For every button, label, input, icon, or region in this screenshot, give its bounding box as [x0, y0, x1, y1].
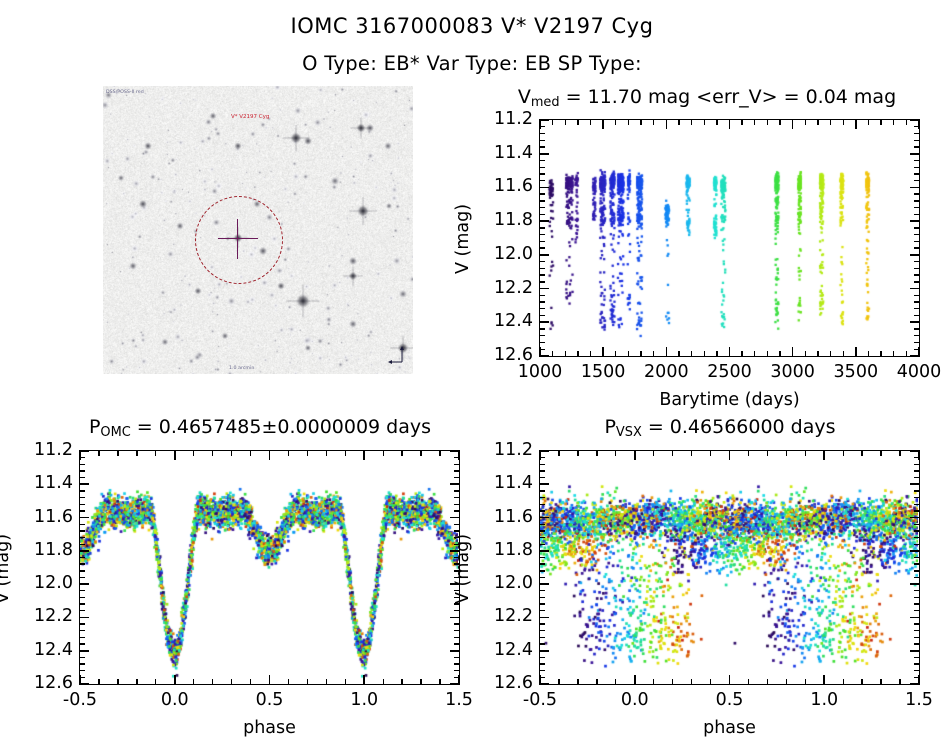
lightcurve-title: Vmed = 11.70 mag <err_V> = 0.04 mag: [470, 86, 944, 110]
y-tick-label: 12.2: [481, 608, 533, 626]
y-tick-label: 11.2: [21, 442, 73, 460]
y-minor-tick: [540, 563, 545, 564]
x-minor-tick: [420, 451, 421, 456]
y-minor-tick: [540, 301, 545, 302]
x-minor-tick: [741, 120, 742, 125]
y-minor-tick: [914, 557, 919, 558]
y-minor-tick: [454, 603, 459, 604]
y-minor-tick: [914, 637, 919, 638]
y-minor-tick: [80, 610, 85, 611]
x-minor-tick: [880, 451, 881, 456]
x-minor-tick: [843, 120, 844, 125]
x-minor-tick: [193, 451, 194, 456]
sky-corner-label: DSS/POSS-II red: [106, 89, 144, 95]
x-minor-tick: [558, 679, 559, 684]
x-minor-tick: [817, 120, 818, 125]
y-tick: [910, 550, 919, 552]
x-minor-tick: [748, 679, 749, 684]
x-minor-tick: [577, 120, 578, 125]
y-tick: [80, 550, 89, 552]
y-tick: [910, 617, 919, 619]
y-minor-tick: [80, 637, 85, 638]
phase-vsx-points-canvas: [540, 451, 918, 683]
y-minor-tick: [914, 315, 919, 316]
y-minor-tick: [454, 610, 459, 611]
y-minor-tick: [540, 160, 545, 161]
y-minor-tick: [454, 470, 459, 471]
y-tick: [910, 483, 919, 485]
y-minor-tick: [540, 497, 545, 498]
y-tick: [540, 683, 549, 685]
y-minor-tick: [80, 630, 85, 631]
x-minor-tick: [136, 679, 137, 684]
y-minor-tick: [540, 234, 545, 235]
x-minor-tick: [615, 451, 616, 456]
y-tick: [80, 650, 89, 652]
y-tick: [540, 355, 549, 357]
y-tick-label: 12.2: [21, 608, 73, 626]
x-minor-tick: [805, 351, 806, 356]
y-tick: [80, 617, 89, 619]
pomc-symbol: P: [89, 416, 100, 438]
x-minor-tick: [786, 679, 787, 684]
x-minor-tick: [704, 351, 705, 356]
x-minor-tick: [704, 120, 705, 125]
x-tick-label: 0.5: [230, 692, 310, 710]
y-minor-tick: [80, 530, 85, 531]
x-tick: [269, 451, 271, 460]
x-minor-tick: [401, 451, 402, 456]
y-minor-tick: [914, 133, 919, 134]
y-tick-label: 12.2: [481, 280, 533, 298]
y-minor-tick: [914, 504, 919, 505]
x-minor-tick: [899, 679, 900, 684]
y-minor-tick: [914, 570, 919, 571]
x-minor-tick: [767, 120, 768, 125]
x-minor-tick: [212, 679, 213, 684]
vmed-subscript: med: [531, 95, 560, 110]
x-minor-tick: [899, 451, 900, 456]
y-minor-tick: [80, 670, 85, 671]
x-tick: [634, 451, 636, 460]
y-minor-tick: [540, 295, 545, 296]
y-minor-tick: [80, 524, 85, 525]
x-minor-tick: [861, 451, 862, 456]
y-tick-label: 11.4: [481, 475, 533, 493]
y-minor-tick: [914, 537, 919, 538]
y-minor-tick: [914, 214, 919, 215]
x-minor-tick: [861, 679, 862, 684]
x-minor-tick: [716, 120, 717, 125]
y-tick: [540, 187, 549, 189]
y-minor-tick: [540, 268, 545, 269]
vmed-value-text: = 11.70 mag <err_V> = 0.04 mag: [560, 86, 897, 108]
x-minor-tick: [615, 120, 616, 125]
y-tick-label: 11.8: [481, 542, 533, 560]
y-minor-tick: [454, 670, 459, 671]
x-minor-tick: [741, 351, 742, 356]
x-tick: [823, 675, 825, 684]
y-minor-tick: [454, 570, 459, 571]
pvsx-value-text: = 0.46566000 days: [642, 416, 836, 438]
x-tick: [539, 347, 541, 356]
x-minor-tick: [590, 120, 591, 125]
y-minor-tick: [80, 504, 85, 505]
x-minor-tick: [767, 451, 768, 456]
y-minor-tick: [540, 464, 545, 465]
y-minor-tick: [454, 630, 459, 631]
x-minor-tick: [786, 451, 787, 456]
y-minor-tick: [80, 563, 85, 564]
y-tick-label: 11.8: [481, 212, 533, 230]
x-minor-tick: [678, 351, 679, 356]
x-minor-tick: [691, 451, 692, 456]
vmed-symbol: V: [518, 86, 531, 108]
y-minor-tick: [454, 563, 459, 564]
y-tick: [910, 583, 919, 585]
y-tick: [450, 617, 459, 619]
y-minor-tick: [540, 308, 545, 309]
y-minor-tick: [914, 200, 919, 201]
y-tick: [450, 550, 459, 552]
y-minor-tick: [914, 497, 919, 498]
y-minor-tick: [454, 497, 459, 498]
x-tick: [602, 120, 604, 129]
y-minor-tick: [914, 670, 919, 671]
x-tick: [918, 120, 920, 129]
x-minor-tick: [565, 351, 566, 356]
y-tick-label: 12.4: [481, 642, 533, 660]
y-minor-tick: [914, 643, 919, 644]
y-minor-tick: [914, 590, 919, 591]
x-minor-tick: [552, 120, 553, 125]
x-minor-tick: [590, 351, 591, 356]
x-minor-tick: [640, 351, 641, 356]
y-tick: [540, 650, 549, 652]
y-minor-tick: [914, 268, 919, 269]
object-type-line: O Type: EB* Var Type: EB SP Type:: [0, 52, 944, 75]
y-minor-tick: [540, 657, 545, 658]
x-tick: [602, 347, 604, 356]
x-minor-tick: [307, 451, 308, 456]
y-minor-tick: [454, 524, 459, 525]
x-minor-tick: [155, 451, 156, 456]
y-minor-tick: [914, 180, 919, 181]
y-minor-tick: [540, 140, 545, 141]
x-tick: [918, 451, 920, 460]
x-tick-label: 4000: [879, 364, 944, 382]
y-minor-tick: [540, 261, 545, 262]
y-minor-tick: [540, 637, 545, 638]
x-minor-tick: [565, 120, 566, 125]
x-tick: [269, 675, 271, 684]
x-minor-tick: [231, 451, 232, 456]
pvsx-subscript: VSX: [616, 425, 642, 440]
target-aperture-circle: [195, 196, 283, 284]
x-minor-tick: [288, 451, 289, 456]
x-minor-tick: [98, 679, 99, 684]
y-tick-label: 11.2: [481, 442, 533, 460]
sky-target-label: V* V2197 Cyg: [231, 114, 269, 120]
y-tick: [450, 483, 459, 485]
x-minor-tick: [710, 451, 711, 456]
x-tick: [823, 451, 825, 460]
x-tick-label: -0.5: [500, 692, 580, 710]
x-minor-tick: [345, 451, 346, 456]
y-minor-tick: [914, 477, 919, 478]
y-minor-tick: [80, 464, 85, 465]
y-minor-tick: [540, 274, 545, 275]
y-minor-tick: [914, 342, 919, 343]
y-minor-tick: [540, 335, 545, 336]
x-minor-tick: [596, 679, 597, 684]
x-minor-tick: [779, 351, 780, 356]
lightcurve-plot-frame: [539, 119, 920, 357]
x-minor-tick: [817, 351, 818, 356]
y-minor-tick: [540, 247, 545, 248]
x-minor-tick: [326, 451, 327, 456]
y-minor-tick: [540, 603, 545, 604]
y-minor-tick: [80, 570, 85, 571]
y-tick: [540, 450, 549, 452]
y-minor-tick: [914, 470, 919, 471]
x-minor-tick: [653, 120, 654, 125]
x-minor-tick: [880, 351, 881, 356]
x-tick-label: 0.5: [690, 692, 770, 710]
compass-icon: [387, 344, 409, 368]
y-tick: [540, 254, 549, 256]
y-minor-tick: [540, 610, 545, 611]
y-minor-tick: [914, 597, 919, 598]
x-tick: [666, 347, 668, 356]
y-minor-tick: [80, 557, 85, 558]
x-tick: [918, 347, 920, 356]
phase-vsx-title: PVSX = 0.46566000 days: [490, 416, 944, 440]
y-minor-tick: [540, 630, 545, 631]
y-minor-tick: [540, 623, 545, 624]
lightcurve-yaxis-label: V (mag): [453, 204, 473, 274]
x-minor-tick: [155, 679, 156, 684]
y-tick: [450, 517, 459, 519]
x-minor-tick: [880, 120, 881, 125]
y-minor-tick: [540, 530, 545, 531]
y-minor-tick: [540, 180, 545, 181]
y-minor-tick: [914, 603, 919, 604]
y-minor-tick: [80, 537, 85, 538]
x-minor-tick: [653, 679, 654, 684]
y-tick-label: 11.2: [481, 111, 533, 129]
x-minor-tick: [288, 679, 289, 684]
y-minor-tick: [540, 200, 545, 201]
phase-omc-title: POMC = 0.4657485±0.0000009 days: [30, 416, 490, 440]
y-minor-tick: [540, 670, 545, 671]
x-tick-label: 0.0: [595, 692, 675, 710]
dss-finding-chart: DSS/POSS-II red V* V2197 Cyg 1.0 arcmin: [103, 86, 413, 374]
x-minor-tick: [868, 120, 869, 125]
x-tick: [174, 675, 176, 684]
y-minor-tick: [540, 477, 545, 478]
y-tick-label: 11.6: [21, 509, 73, 527]
y-tick: [540, 153, 549, 155]
y-tick: [910, 321, 919, 323]
x-tick: [792, 347, 794, 356]
x-minor-tick: [326, 679, 327, 684]
y-minor-tick: [914, 193, 919, 194]
y-tick: [540, 617, 549, 619]
y-minor-tick: [914, 490, 919, 491]
y-minor-tick: [80, 603, 85, 604]
y-tick: [80, 583, 89, 585]
x-minor-tick: [117, 679, 118, 684]
y-minor-tick: [454, 544, 459, 545]
y-minor-tick: [914, 663, 919, 664]
y-minor-tick: [540, 193, 545, 194]
lightcurve-xaxis-label: Barytime (days): [600, 390, 860, 410]
y-minor-tick: [914, 247, 919, 248]
y-minor-tick: [914, 146, 919, 147]
y-minor-tick: [80, 497, 85, 498]
page-title: IOMC 3167000083 V* V2197 Cyg: [0, 14, 944, 38]
y-minor-tick: [914, 241, 919, 242]
y-minor-tick: [540, 537, 545, 538]
y-minor-tick: [914, 464, 919, 465]
y-minor-tick: [454, 643, 459, 644]
x-minor-tick: [754, 120, 755, 125]
y-tick: [450, 583, 459, 585]
y-minor-tick: [454, 663, 459, 664]
y-tick: [540, 550, 549, 552]
x-minor-tick: [754, 351, 755, 356]
phase-vsx-xaxis-label: phase: [600, 718, 860, 738]
y-tick-label: 12.0: [481, 575, 533, 593]
x-minor-tick: [716, 351, 717, 356]
y-minor-tick: [540, 524, 545, 525]
x-tick: [729, 347, 731, 356]
phase-omc-yaxis-label: V (mag): [0, 533, 13, 603]
y-minor-tick: [80, 663, 85, 664]
y-minor-tick: [80, 643, 85, 644]
x-tick-label: 1.5: [419, 692, 499, 710]
y-minor-tick: [540, 570, 545, 571]
y-minor-tick: [914, 577, 919, 578]
x-minor-tick: [401, 679, 402, 684]
x-minor-tick: [117, 451, 118, 456]
y-tick: [910, 288, 919, 290]
y-minor-tick: [454, 504, 459, 505]
y-minor-tick: [454, 477, 459, 478]
y-minor-tick: [914, 167, 919, 168]
y-minor-tick: [454, 557, 459, 558]
y-minor-tick: [80, 544, 85, 545]
y-minor-tick: [80, 623, 85, 624]
x-tick: [539, 451, 541, 460]
x-minor-tick: [805, 451, 806, 456]
lightcurve-points-canvas: [540, 120, 918, 355]
x-minor-tick: [691, 120, 692, 125]
x-tick: [363, 451, 365, 460]
x-minor-tick: [672, 451, 673, 456]
y-tick: [540, 583, 549, 585]
y-minor-tick: [914, 227, 919, 228]
y-tick-label: 11.8: [21, 542, 73, 560]
x-tick: [666, 120, 668, 129]
y-minor-tick: [540, 590, 545, 591]
x-minor-tick: [439, 679, 440, 684]
y-minor-tick: [914, 335, 919, 336]
x-minor-tick: [552, 351, 553, 356]
y-minor-tick: [914, 657, 919, 658]
x-minor-tick: [880, 679, 881, 684]
x-tick: [458, 675, 460, 684]
y-minor-tick: [914, 328, 919, 329]
x-minor-tick: [596, 451, 597, 456]
x-tick: [792, 120, 794, 129]
y-minor-tick: [454, 590, 459, 591]
y-minor-tick: [454, 637, 459, 638]
y-minor-tick: [914, 173, 919, 174]
y-minor-tick: [914, 274, 919, 275]
x-minor-tick: [843, 351, 844, 356]
y-tick-label: 11.6: [481, 178, 533, 196]
y-minor-tick: [540, 490, 545, 491]
x-tick-label: 1.0: [324, 692, 404, 710]
pomc-subscript: OMC: [100, 425, 130, 440]
crosshair-horizontal: [218, 238, 258, 239]
y-tick: [540, 288, 549, 290]
x-minor-tick: [628, 351, 629, 356]
y-minor-tick: [540, 470, 545, 471]
y-minor-tick: [540, 597, 545, 598]
x-minor-tick: [691, 679, 692, 684]
y-minor-tick: [540, 173, 545, 174]
x-minor-tick: [345, 679, 346, 684]
y-minor-tick: [914, 510, 919, 511]
y-minor-tick: [914, 308, 919, 309]
x-tick-label: 0.0: [135, 692, 215, 710]
y-tick: [540, 321, 549, 323]
x-minor-tick: [577, 451, 578, 456]
y-minor-tick: [454, 530, 459, 531]
x-minor-tick: [805, 120, 806, 125]
y-minor-tick: [540, 227, 545, 228]
y-tick: [910, 220, 919, 222]
y-minor-tick: [540, 241, 545, 242]
y-tick: [910, 187, 919, 189]
y-tick-label: 11.4: [481, 145, 533, 163]
y-minor-tick: [80, 657, 85, 658]
phase-vsx-plot-frame: [539, 450, 920, 685]
x-minor-tick: [628, 120, 629, 125]
x-tick: [634, 675, 636, 684]
x-tick: [363, 675, 365, 684]
x-minor-tick: [439, 451, 440, 456]
y-minor-tick: [540, 643, 545, 644]
y-minor-tick: [914, 234, 919, 235]
x-tick-label: 1.5: [879, 692, 944, 710]
x-minor-tick: [420, 679, 421, 684]
y-minor-tick: [454, 464, 459, 465]
x-minor-tick: [906, 351, 907, 356]
y-tick-label: 12.0: [21, 575, 73, 593]
x-minor-tick: [250, 451, 251, 456]
x-minor-tick: [136, 451, 137, 456]
y-tick: [450, 650, 459, 652]
y-minor-tick: [914, 160, 919, 161]
y-tick-label: 12.4: [21, 642, 73, 660]
y-minor-tick: [540, 133, 545, 134]
x-minor-tick: [383, 451, 384, 456]
y-minor-tick: [540, 328, 545, 329]
